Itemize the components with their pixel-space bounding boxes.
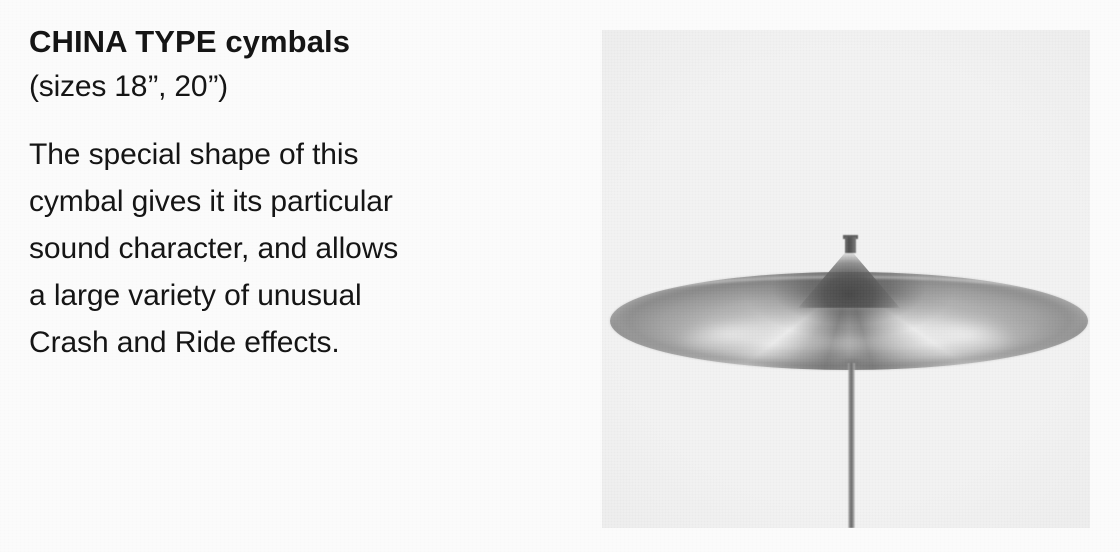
inch-mark-2: ’’ <box>207 70 218 103</box>
size-value-2: 20 <box>174 70 207 103</box>
product-heading-space <box>217 24 226 59</box>
sizes-separator: , <box>158 70 174 103</box>
sizes-closing-paren: ) <box>218 70 228 103</box>
description-line: a large variety of unusual <box>29 272 599 319</box>
description-line: sound character, and allows <box>29 225 599 272</box>
inch-mark-1: ’’ <box>147 70 158 103</box>
product-photo-panel <box>602 30 1090 528</box>
product-heading: CHINA TYPE cymbals <box>29 23 350 61</box>
product-heading-kind: cymbals <box>225 24 350 59</box>
catalog-page: CHINA TYPE cymbals (sizes 18’’, 20’’) Th… <box>0 0 1120 552</box>
description-line: cymbal gives it its particular <box>29 178 599 225</box>
wing-nut <box>845 237 856 253</box>
description-line: The special shape of this <box>29 131 599 178</box>
product-description: The special shape of this cymbal gives i… <box>29 131 599 366</box>
product-sizes-line: (sizes 18’’, 20’’) <box>29 68 228 106</box>
sizes-prefix: (sizes <box>29 70 114 103</box>
cymbal-stand-rod <box>848 363 855 528</box>
size-value-1: 18 <box>114 70 147 103</box>
cymbal-photo <box>602 30 1090 528</box>
product-text-column: CHINA TYPE cymbals (sizes 18’’, 20’’) Th… <box>0 0 600 552</box>
product-heading-model: CHINA TYPE <box>29 24 217 59</box>
description-line: Crash and Ride effects. <box>29 319 599 366</box>
